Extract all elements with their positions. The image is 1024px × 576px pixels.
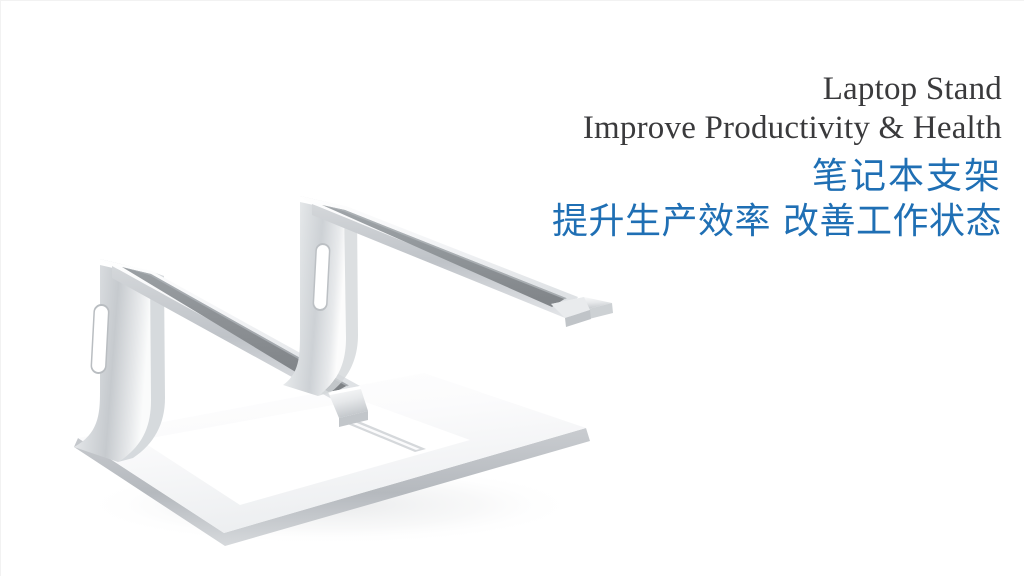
product-banner: Laptop Stand Improve Productivity & Heal… <box>0 0 1024 576</box>
english-title-line-2: Improve Productivity & Health <box>362 109 1002 148</box>
headline-block: Laptop Stand Improve Productivity & Heal… <box>362 70 1002 244</box>
chinese-title: 笔记本支架 <box>362 154 1002 199</box>
english-title-line-1: Laptop Stand <box>362 70 1002 109</box>
chinese-subtitle: 提升生产效率 改善工作状态 <box>362 199 1002 244</box>
